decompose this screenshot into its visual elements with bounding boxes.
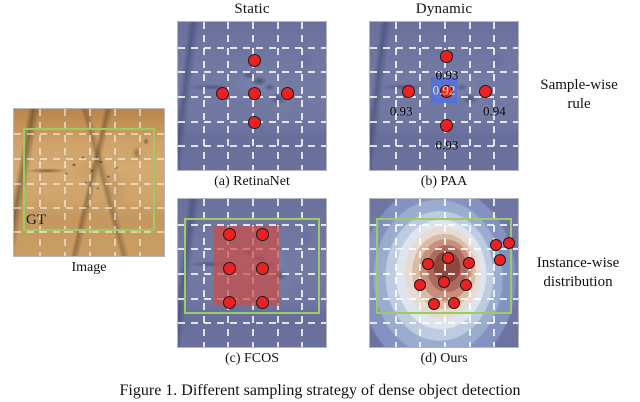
sample-dot bbox=[256, 228, 269, 241]
sample-dot bbox=[256, 296, 269, 309]
gt-bounding-box bbox=[376, 218, 512, 314]
gt-label: GT bbox=[26, 212, 46, 229]
sample-dot bbox=[490, 239, 502, 251]
sample-dot bbox=[281, 87, 294, 100]
sample-dot bbox=[460, 279, 472, 291]
sample-dot bbox=[438, 276, 450, 288]
score-label-left: 0.93 bbox=[390, 104, 413, 117]
sample-dot bbox=[256, 262, 269, 275]
row-label-instance-wise-line2: distribution bbox=[516, 273, 640, 292]
panel-fcos bbox=[178, 199, 326, 347]
row-label-sample-wise: Sample-wise rule bbox=[518, 76, 640, 114]
caption-image: Image bbox=[14, 260, 164, 276]
score-label-top: 0.93 bbox=[436, 69, 459, 82]
figure-container: Static Dynamic GT Image (a bbox=[0, 0, 640, 402]
caption-ours: (d) Ours bbox=[370, 351, 518, 367]
row-label-instance-wise-line1: Instance-wise bbox=[516, 254, 640, 273]
sample-dot bbox=[494, 254, 506, 266]
sample-dot bbox=[463, 257, 475, 269]
sample-dot bbox=[440, 50, 453, 63]
column-header-dynamic: Dynamic bbox=[370, 1, 518, 18]
panel-paa: 0.93 0.93 0.92 0.94 0.93 bbox=[370, 22, 518, 170]
row-label-instance-wise: Instance-wise distribution bbox=[516, 254, 640, 292]
sample-dot bbox=[422, 258, 434, 270]
score-label-center: 0.92 bbox=[433, 84, 456, 97]
sample-dot bbox=[402, 85, 415, 98]
panel-retinanet bbox=[178, 22, 326, 170]
sample-dot bbox=[216, 87, 229, 100]
column-header-static: Static bbox=[178, 1, 326, 18]
caption-retinanet: (a) RetinaNet bbox=[178, 174, 326, 190]
row-label-sample-wise-line2: rule bbox=[518, 95, 640, 114]
score-label-right: 0.94 bbox=[483, 104, 506, 117]
figure-caption: Figure 1. Different sampling strategy of… bbox=[0, 382, 640, 400]
caption-fcos: (c) FCOS bbox=[178, 351, 326, 367]
sample-dot bbox=[428, 298, 440, 310]
panel-ours bbox=[370, 199, 518, 347]
caption-paa: (b) PAA bbox=[370, 174, 518, 190]
panel-image: GT bbox=[14, 109, 164, 256]
score-label-bottom: 0.93 bbox=[436, 138, 459, 151]
row-label-sample-wise-line1: Sample-wise bbox=[518, 76, 640, 95]
sample-dot bbox=[248, 87, 261, 100]
sample-dot bbox=[479, 85, 492, 98]
sample-dot bbox=[448, 297, 460, 309]
